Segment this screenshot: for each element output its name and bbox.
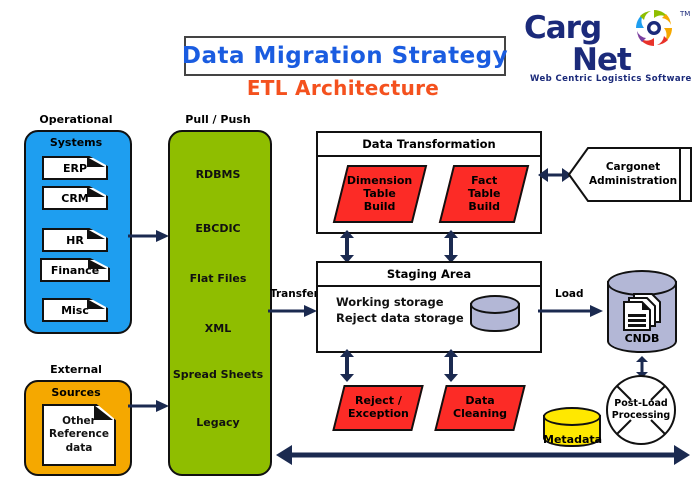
postload-line-2: Processing [612, 410, 670, 422]
arrow-external-to-extract [128, 398, 170, 414]
external-sources-box: Sources Other Reference data [24, 380, 132, 476]
staging-area-box: Staging Area Working storage Reject data… [316, 261, 542, 353]
staging-line-2: Reject data storage [336, 311, 464, 327]
external-doc-line-2: Reference [49, 428, 109, 441]
logo-text-cargo: Carg [524, 10, 601, 46]
extract-item-rdbms[interactable]: RDBMS [168, 168, 268, 181]
admin-line-1: Cargonet [589, 161, 677, 174]
swirl-icon [632, 6, 676, 50]
fact-table-build-label: Fact Table Build [468, 175, 501, 214]
reject-exception-step[interactable]: Reject / Exception [332, 385, 423, 431]
trademark-symbol: TM [680, 10, 690, 18]
dimension-table-build-label: Dimension Table Build [347, 175, 412, 214]
step-line-3: Build [347, 200, 412, 213]
fold-corner-misc [42, 298, 106, 320]
extract-item-ebcdic[interactable]: EBCDIC [168, 222, 268, 235]
documents-icon [622, 292, 664, 332]
arrow-load [538, 303, 604, 319]
staging-area-title: Staging Area [318, 263, 540, 287]
transfer-flow-label: Transfer [270, 288, 319, 300]
arrow-feedback-bottom [276, 444, 690, 466]
extract-item-legacy[interactable]: Legacy [168, 416, 268, 429]
arrow-transformation-admin [538, 166, 572, 184]
arrow-staging-cleaning [442, 349, 460, 382]
fact-table-build-step[interactable]: Fact Table Build [439, 165, 529, 223]
staging-database-cylinder [470, 295, 520, 337]
quality-line-2: Exception [348, 408, 409, 421]
operational-systems-box: Systems ERP CRM HR Finance Misc [24, 130, 132, 334]
arrow-operational-to-extract [128, 228, 170, 244]
post-load-processing-label: Post-Load Processing [605, 374, 677, 446]
cndb-warehouse-cylinder[interactable]: CNDB [607, 270, 677, 358]
operational-systems-caption-line2: Systems [26, 136, 126, 149]
external-doc-line-3: data [66, 442, 93, 455]
fold-corner-erp [42, 156, 106, 178]
quality-line-2: Cleaning [453, 408, 507, 421]
cargonet-administration-box[interactable]: Cargonet Administration [568, 147, 692, 202]
page-subtitle: ETL Architecture [184, 76, 502, 100]
step-line-2: Table [468, 188, 501, 201]
data-transformation-box: Data Transformation Dimension Table Buil… [316, 131, 542, 234]
post-load-processing-node[interactable]: Post-Load Processing [605, 374, 677, 446]
data-cleaning-step[interactable]: Data Cleaning [434, 385, 525, 431]
admin-line-2: Administration [589, 175, 677, 188]
cndb-label: CNDB [607, 332, 677, 345]
fold-corner-hr [42, 228, 106, 250]
logo-tagline: Web Centric Logistics Software [530, 74, 692, 84]
data-cleaning-label: Data Cleaning [453, 395, 507, 421]
arrow-transformation-staging-right [442, 230, 460, 263]
step-line-1: Dimension [347, 175, 412, 188]
staging-area-contents: Working storage Reject data storage [336, 295, 464, 326]
logo-text-net: Net [572, 42, 631, 78]
cargonet-administration-label: Cargonet Administration [590, 147, 676, 202]
extract-sources-box: RDBMS EBCDIC Flat Files XML Spread Sheet… [168, 130, 272, 476]
fold-corner-external-doc [42, 404, 114, 428]
step-line-3: Build [468, 200, 501, 213]
extract-caption: Pull / Push [168, 113, 268, 126]
step-line-2: Table [347, 188, 412, 201]
page-title: Data Migration Strategy [182, 43, 508, 69]
postload-line-1: Post-Load [614, 398, 667, 410]
reject-exception-label: Reject / Exception [348, 395, 409, 421]
load-flow-label: Load [555, 288, 584, 300]
data-transformation-title: Data Transformation [318, 133, 540, 157]
staging-line-1: Working storage [336, 295, 464, 311]
fold-corner-finance [40, 258, 108, 280]
extract-item-xml[interactable]: XML [168, 322, 268, 335]
external-sources-caption-line1: External [24, 363, 128, 376]
fold-corner-crm [42, 186, 106, 208]
extract-item-flat-files[interactable]: Flat Files [168, 272, 268, 285]
dimension-table-build-step[interactable]: Dimension Table Build [333, 165, 427, 223]
external-sources-caption-line2: Sources [26, 386, 126, 399]
arrow-transformation-staging-left [338, 230, 356, 263]
cargonet-logo: Carg Net TM Web Centric Logistics Softwa… [512, 4, 697, 84]
step-line-1: Fact [468, 175, 501, 188]
extract-item-spread-sheets[interactable]: Spread Sheets [168, 368, 268, 381]
arrow-transfer [268, 303, 318, 319]
operational-systems-caption-line1: Operational [24, 113, 128, 126]
arrow-staging-reject [338, 349, 356, 382]
title-box: Data Migration Strategy [184, 36, 506, 76]
